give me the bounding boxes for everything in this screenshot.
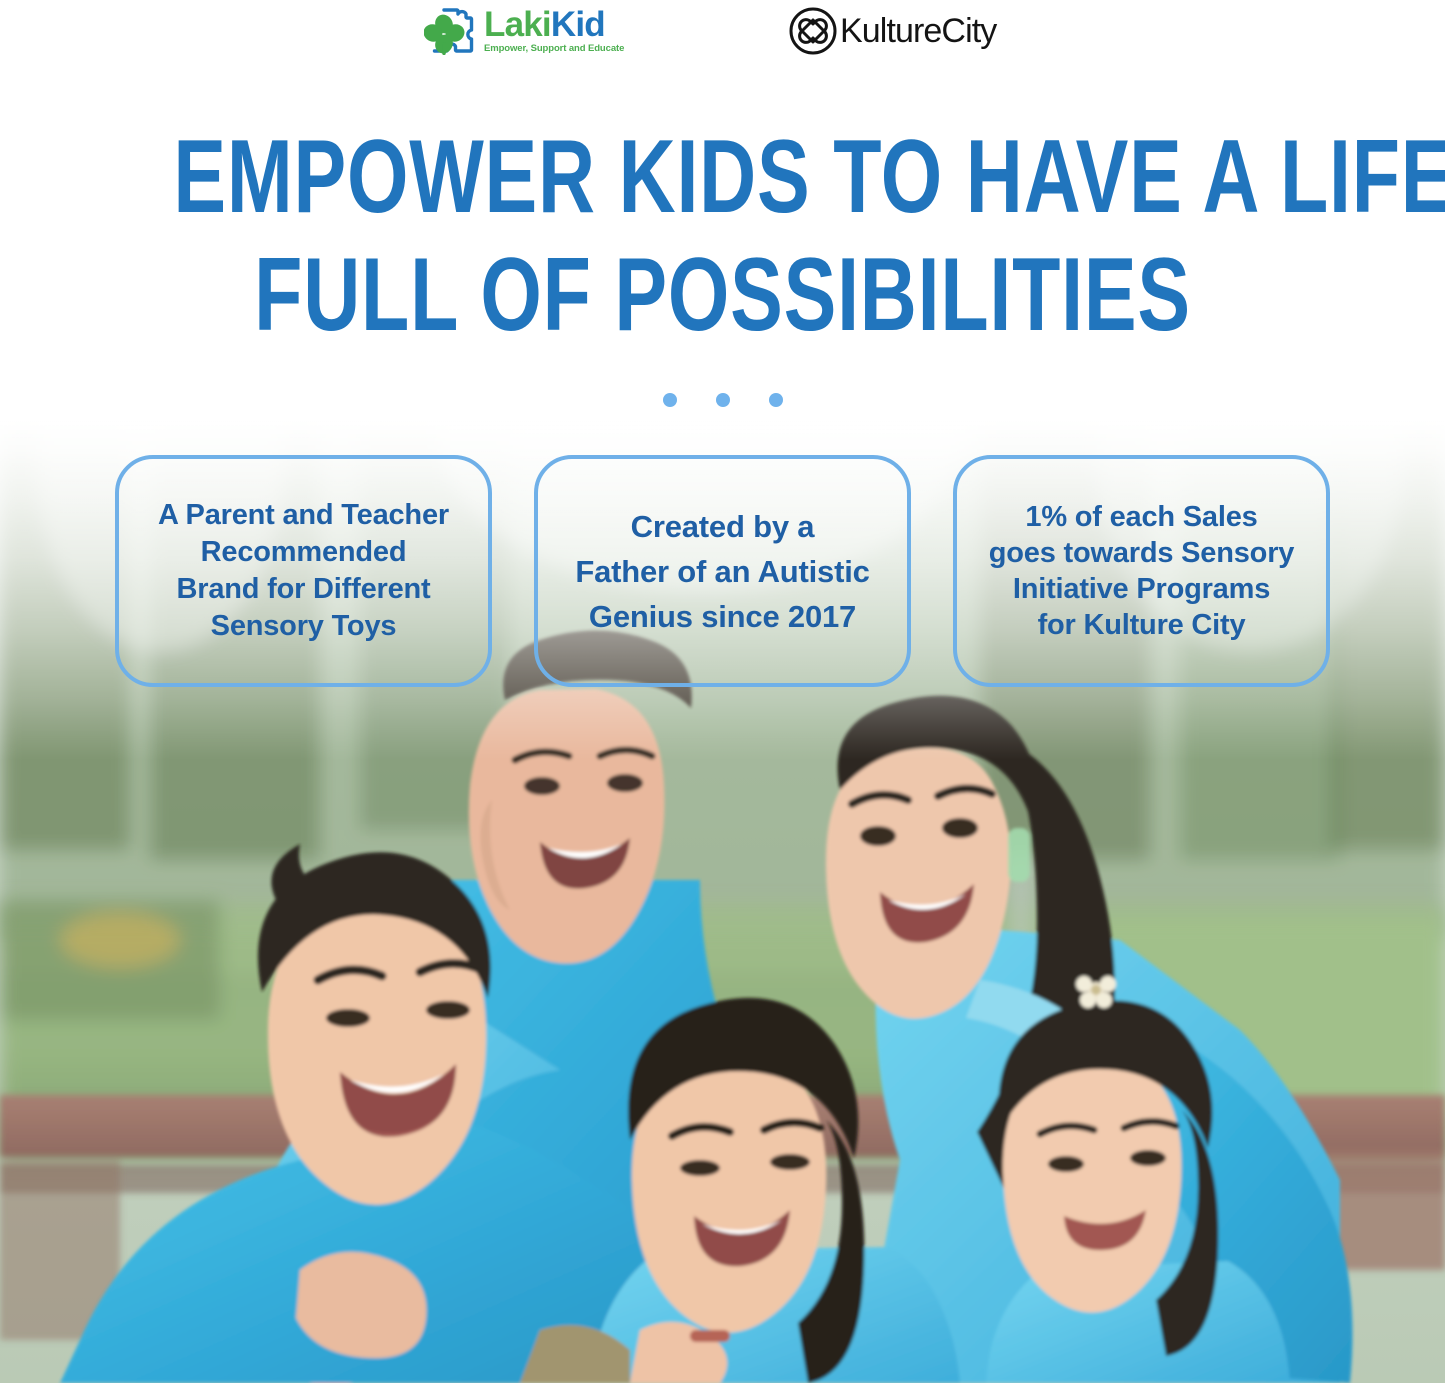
divider-dot [663, 393, 677, 407]
feature-box-line: Sensory Toys [211, 608, 397, 645]
feature-box-created-by-father[interactable]: Created by a Father of an Autistic Geniu… [534, 455, 911, 687]
feature-box-line: 1% of each Sales [1025, 499, 1257, 535]
feature-box-line: for Kulture City [1038, 607, 1246, 643]
headline: EMPOWER KIDS TO HAVE A LIFE FULL OF POSS… [0, 118, 1445, 354]
feature-box-one-percent-sales[interactable]: 1% of each Sales goes towards Sensory In… [953, 455, 1330, 687]
lakikid-word-kid: Kid [551, 5, 605, 44]
lakikid-wordmark: LakiKid Empower, Support and Educate [484, 8, 624, 54]
lakikid-word-laki: Laki [484, 5, 551, 44]
feature-box-parent-teacher-recommended[interactable]: A Parent and Teacher Recommended Brand f… [115, 455, 492, 687]
circle-heart-knot-icon [788, 6, 838, 56]
kulturecity-wordmark: KultureCity [840, 12, 996, 51]
dot-divider [0, 393, 1445, 407]
kulturecity-logo[interactable]: KultureCity [788, 6, 996, 56]
feature-box-line: goes towards Sensory [989, 535, 1294, 571]
divider-dot [769, 393, 783, 407]
feature-box-line: Genius since 2017 [589, 594, 856, 639]
feature-box-line: Recommended [201, 534, 407, 571]
headline-line-1: EMPOWER KIDS TO HAVE A LIFE [173, 118, 1271, 236]
divider-dot [716, 393, 730, 407]
feature-boxes: A Parent and Teacher Recommended Brand f… [115, 455, 1330, 687]
hero-banner: LakiKid Empower, Support and Educate Kul… [0, 0, 1445, 1383]
feature-box-line: Initiative Programs [1013, 571, 1270, 607]
headline-line-2: FULL OF POSSIBILITIES [173, 236, 1271, 354]
feature-box-line: A Parent and Teacher [158, 497, 449, 534]
feature-box-line: Brand for Different [177, 571, 431, 608]
feature-box-line: Father of an Autistic [575, 549, 869, 594]
puzzle-clover-icon [424, 5, 480, 57]
lakikid-logo[interactable]: LakiKid Empower, Support and Educate [424, 4, 624, 58]
lakikid-tagline: Empower, Support and Educate [484, 43, 624, 54]
logo-bar: LakiKid Empower, Support and Educate Kul… [0, 0, 1445, 66]
feature-box-line: Created by a [631, 504, 815, 549]
